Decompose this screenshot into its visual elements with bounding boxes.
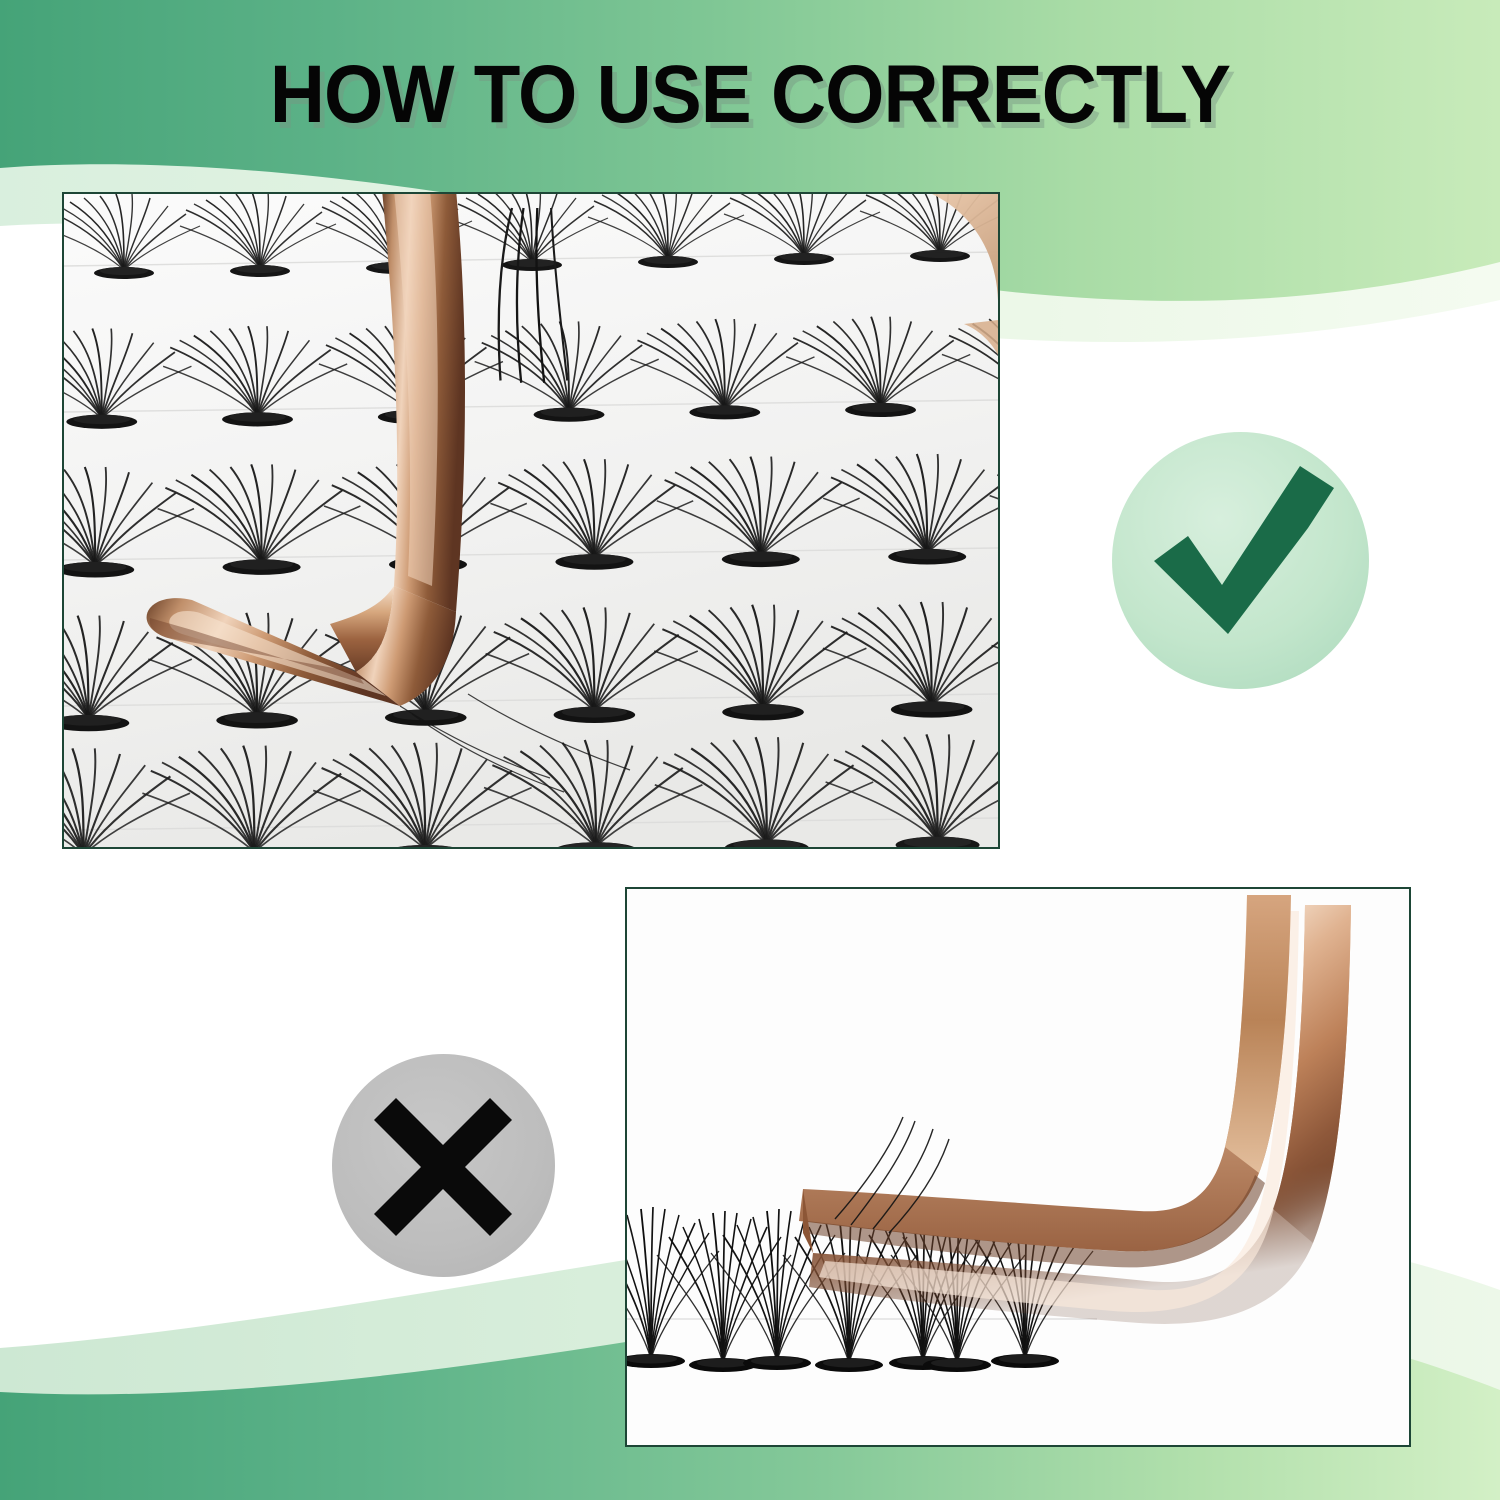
infographic-root: HOW TO USE CORRECTLY bbox=[0, 0, 1500, 1500]
check-icon bbox=[1112, 432, 1369, 689]
check-badge bbox=[1112, 432, 1369, 689]
incorrect-usage-photo bbox=[625, 887, 1411, 1447]
page-title: HOW TO USE CORRECTLY bbox=[53, 48, 1448, 142]
correct-usage-photo bbox=[62, 192, 1000, 849]
cross-icon bbox=[332, 1054, 555, 1277]
lash-tray-with-tweezers-illustration bbox=[64, 194, 998, 847]
lash-row-with-tweezers-illustration bbox=[627, 889, 1409, 1445]
cross-badge bbox=[332, 1054, 555, 1277]
